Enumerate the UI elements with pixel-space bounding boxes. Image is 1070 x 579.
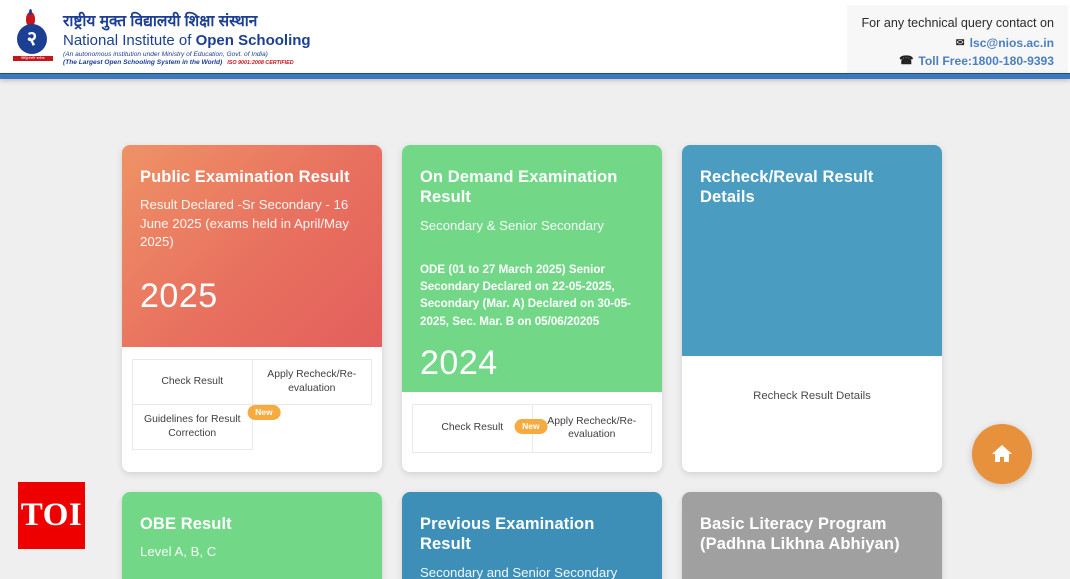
logo-english-light: National Institute of (63, 32, 196, 49)
card-actions: Check Result Apply Recheck/Re-evaluation… (122, 347, 382, 472)
card-header: Recheck/Reval Result Details (682, 145, 942, 356)
phone-icon: ☎ (899, 53, 913, 71)
contact-email-row[interactable]: ✉ lsc@nios.ac.in (861, 34, 1054, 53)
card-year: 2025 (140, 279, 364, 313)
guidelines-button[interactable]: Guidelines for Result Correction (133, 405, 253, 450)
contact-phone[interactable]: Toll Free:1800-180-9393 (918, 52, 1054, 71)
logo-subtitle-largest-text: (The Largest Open Schooling System in th… (63, 59, 222, 66)
card-basic-literacy-program[interactable]: Basic Literacy Program (Padhna Likhna Ab… (682, 492, 942, 579)
header-divider (0, 73, 1070, 79)
nios-emblem-icon: २ सिद्धिर्भवति कर्मजा (12, 12, 56, 62)
card-actions: Recheck Result Details (682, 356, 942, 472)
page-body: Public Examination Result Result Declare… (0, 79, 1070, 579)
logo-subtitle-largest: (The Largest Open Schooling System in th… (63, 59, 311, 66)
logo-iso-text: ISO 9001:2008 CERTIFIED (227, 60, 293, 66)
card-actions: Check Result Apply Recheck/Re-evaluation… (402, 392, 662, 472)
check-result-button[interactable]: Check Result (133, 360, 253, 405)
home-fab-button[interactable] (972, 424, 1032, 484)
contact-email[interactable]: lsc@nios.ac.in (970, 34, 1054, 53)
card-button-grid: Check Result Apply Recheck/Re-evaluation… (412, 404, 652, 453)
card-title: OBE Result (140, 514, 364, 534)
new-badge: New (247, 405, 280, 420)
card-header: OBE Result Level A, B, C (122, 492, 382, 579)
recheck-result-details-link[interactable]: Recheck Result Details (692, 390, 932, 402)
logo-english-bold: Open Schooling (196, 32, 311, 49)
nios-logo[interactable]: २ सिद्धिर्भवति कर्मजा राष्ट्रीय मुक्त वि… (12, 12, 311, 66)
card-recheck-reval-result-details[interactable]: Recheck/Reval Result Details Recheck Res… (682, 145, 942, 472)
apply-recheck-button[interactable]: Apply Recheck/Re-evaluation (533, 405, 653, 453)
logo-english-title: National Institute of Open Schooling (63, 32, 311, 49)
logo-hindi-title: राष्ट्रीय मुक्त विद्यालयी शिक्षा संस्थान (63, 13, 311, 31)
card-year: 2024 (420, 346, 644, 380)
card-previous-examination-result[interactable]: Previous Examination Result Secondary an… (402, 492, 662, 579)
logo-subtitle-autonomous: (An autonomous institution under Ministr… (63, 51, 311, 58)
card-subtitle: Secondary & Senior Secondary (420, 217, 644, 235)
card-header: Previous Examination Result Secondary an… (402, 492, 662, 579)
card-title: Recheck/Reval Result Details (700, 167, 924, 208)
card-header: Public Examination Result Result Declare… (122, 145, 382, 347)
emblem-letter: २ (17, 24, 47, 54)
card-title: Previous Examination Result (420, 514, 644, 555)
card-subtitle: Result Declared -Sr Secondary - 16 June … (140, 196, 364, 251)
card-header: Basic Literacy Program (Padhna Likhna Ab… (682, 492, 942, 579)
card-public-examination-result[interactable]: Public Examination Result Result Declare… (122, 145, 382, 472)
contact-intro: For any technical query contact on (861, 14, 1054, 34)
card-on-demand-examination-result[interactable]: On Demand Examination Result Secondary &… (402, 145, 662, 472)
toi-watermark: TOI (18, 482, 85, 549)
contact-phone-row[interactable]: ☎ Toll Free:1800-180-9393 (861, 52, 1054, 71)
card-subtitle: Level A, B, C (140, 543, 364, 561)
home-icon (990, 442, 1014, 466)
card-title: On Demand Examination Result (420, 167, 644, 208)
result-cards-grid: Public Examination Result Result Declare… (122, 145, 942, 579)
card-button-grid: Check Result Apply Recheck/Re-evaluation… (132, 359, 372, 450)
card-subtitle: Secondary and Senior Secondary (420, 564, 644, 579)
site-header: २ सिद्धिर्भवति कर्मजा राष्ट्रीय मुक्त वि… (0, 0, 1070, 73)
apply-recheck-button[interactable]: Apply Recheck/Re-evaluation (253, 360, 373, 405)
envelope-icon: ✉ (956, 35, 965, 51)
toi-label: TOI (21, 497, 82, 534)
new-badge: New (514, 419, 547, 434)
card-header: On Demand Examination Result Secondary &… (402, 145, 662, 392)
card-title: Basic Literacy Program (Padhna Likhna Ab… (700, 514, 924, 555)
logo-text-block: राष्ट्रीय मुक्त विद्यालयी शिक्षा संस्थान… (63, 12, 311, 66)
card-title: Public Examination Result (140, 167, 364, 187)
contact-box: For any technical query contact on ✉ lsc… (847, 5, 1068, 81)
card-obe-result[interactable]: OBE Result Level A, B, C (122, 492, 382, 579)
card-note: ODE (01 to 27 March 2025) Senior Seconda… (420, 261, 644, 330)
emblem-motto: सिद्धिर्भवति कर्मजा (13, 56, 53, 61)
